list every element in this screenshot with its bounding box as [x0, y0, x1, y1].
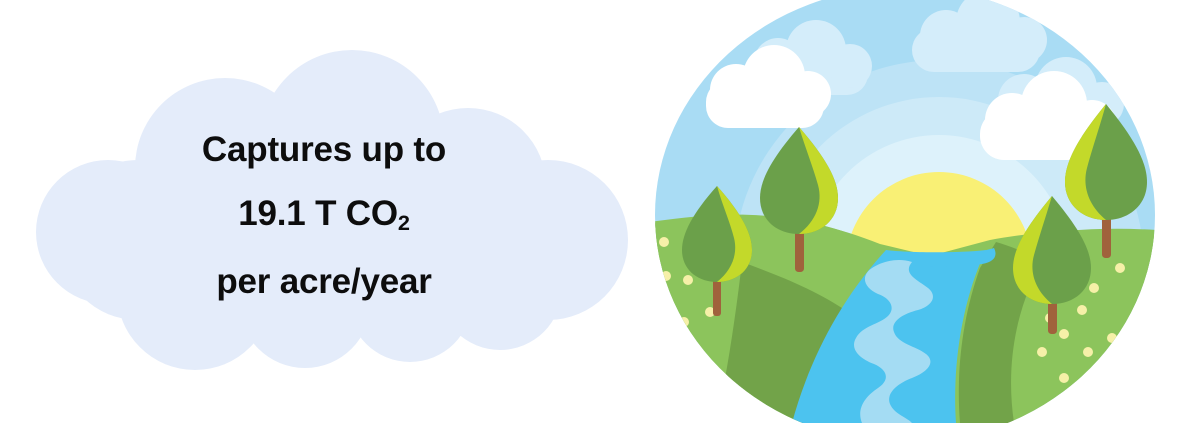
- callout-line-2: 19.1 T CO2: [38, 182, 610, 250]
- callout-line-3: per acre/year: [38, 250, 610, 314]
- sunrise-river-landscape-illustration: [650, 0, 1184, 423]
- thought-cloud-callout: Captures up to 19.1 T CO2 per acre/year: [0, 0, 650, 423]
- callout-text-block: Captures up to 19.1 T CO2 per acre/year: [38, 118, 610, 314]
- infographic-stage: Captures up to 19.1 T CO2 per acre/year: [0, 0, 1184, 423]
- callout-line-1: Captures up to: [38, 118, 610, 182]
- callout-value: 19.1 T CO: [238, 194, 398, 233]
- callout-subscript: 2: [398, 210, 410, 235]
- landscape-svg: [650, 0, 1184, 423]
